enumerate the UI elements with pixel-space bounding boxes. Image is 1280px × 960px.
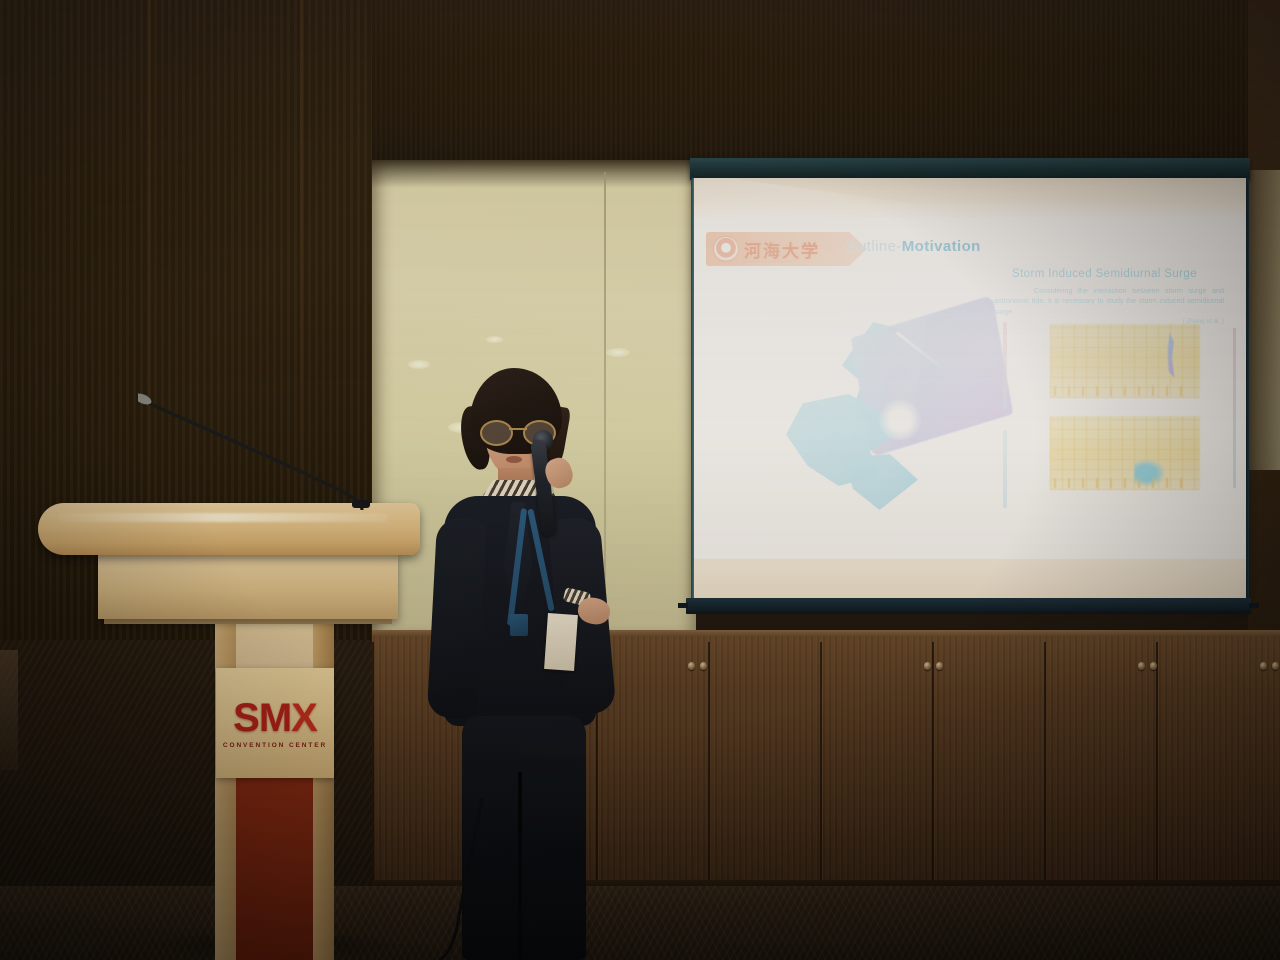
ceiling-light-reflection: [606, 348, 630, 357]
cabinet-knob[interactable]: [1138, 662, 1145, 670]
map-colorbar: [1003, 322, 1007, 410]
screen-top-glow: [694, 178, 1246, 220]
projection-screen-bottom-bar: [686, 598, 1251, 614]
cabinet-knob[interactable]: [700, 662, 707, 670]
cabinet-knob[interactable]: [1150, 662, 1157, 670]
university-seal-icon: [714, 237, 738, 261]
projection-screen: 河海大学 HOHAI UNIVERSITY Outline-Motivation…: [694, 178, 1246, 603]
eyeglass-lens-left: [480, 420, 513, 446]
plot-colorbar: [1233, 328, 1236, 488]
microphone-cable: [418, 798, 658, 960]
slide-lower-band: [694, 559, 1246, 603]
venue-sign: SMX CONVENTION CENTER: [216, 668, 334, 778]
cabinet-door[interactable]: [708, 642, 823, 880]
figure-body-text: Considering the interaction between stor…: [994, 286, 1224, 327]
presenter: [418, 368, 658, 960]
name-badge: [510, 614, 528, 636]
map-colorbar-secondary: [1003, 430, 1007, 508]
alcove-top-shadow: [372, 160, 696, 188]
cabinet-door[interactable]: [932, 642, 1047, 880]
cabinet-knob[interactable]: [1260, 662, 1267, 670]
cabinet-knob[interactable]: [924, 662, 931, 670]
cabinet-knob[interactable]: [688, 662, 695, 670]
map-peninsula-shape: [844, 454, 918, 510]
cabinet-knob[interactable]: [936, 662, 943, 670]
cabinet-door[interactable]: [1044, 642, 1159, 880]
presenter-mouth: [506, 456, 522, 463]
podium-body: [98, 553, 398, 619]
presentation-room-photo: 河海大学 HOHAI UNIVERSITY Outline-Motivation…: [0, 0, 1280, 960]
podium-top-surface: [38, 503, 420, 555]
cabinet-door[interactable]: [1156, 642, 1280, 880]
smx-logo-x: X: [291, 696, 317, 740]
contour-plot-panel: [1050, 324, 1200, 398]
university-name-cn: 河海大学: [744, 237, 820, 262]
podium-highlight: [58, 513, 388, 522]
smx-logo: SMX: [233, 698, 317, 738]
slide-header-title: Outline-Motivation: [846, 238, 981, 255]
map-highlight-spot: [878, 400, 922, 440]
plot-axis-ticks: [1054, 386, 1194, 396]
ceiling-light-reflection: [486, 336, 503, 343]
plot-axis-ticks: [1054, 478, 1194, 488]
projection-screen-housing: [690, 158, 1250, 180]
presenter-notes-paper: [544, 613, 578, 671]
figure-body-paragraph: Considering the interaction between stor…: [994, 286, 1224, 317]
presenter-arm-left: [427, 517, 487, 719]
university-name-en: HOHAI UNIVERSITY: [742, 259, 793, 264]
wall-edge-shadow: [0, 650, 18, 770]
gooseneck-microphone: [138, 392, 388, 510]
microphone-base: [352, 500, 370, 508]
university-logo-banner: 河海大学 HOHAI UNIVERSITY: [706, 232, 850, 266]
cabinet-knob[interactable]: [1272, 662, 1279, 670]
figure-title: Storm Induced Semidiurnal Surge: [987, 268, 1222, 280]
slide-header-emphasis: Motivation: [902, 238, 981, 255]
venue-sign-subtitle: CONVENTION CENTER: [223, 742, 327, 749]
presentation-slide: 河海大学 HOHAI UNIVERSITY Outline-Motivation…: [694, 220, 1246, 560]
smx-logo-sm: SM: [233, 696, 291, 740]
contour-plot-panel: [1050, 416, 1200, 490]
cabinet-door[interactable]: [820, 642, 935, 880]
model-domain-map-figure: [786, 308, 1001, 508]
surge-contour-plots: [1050, 324, 1220, 504]
slide-header-prefix: Outline-: [846, 238, 902, 255]
